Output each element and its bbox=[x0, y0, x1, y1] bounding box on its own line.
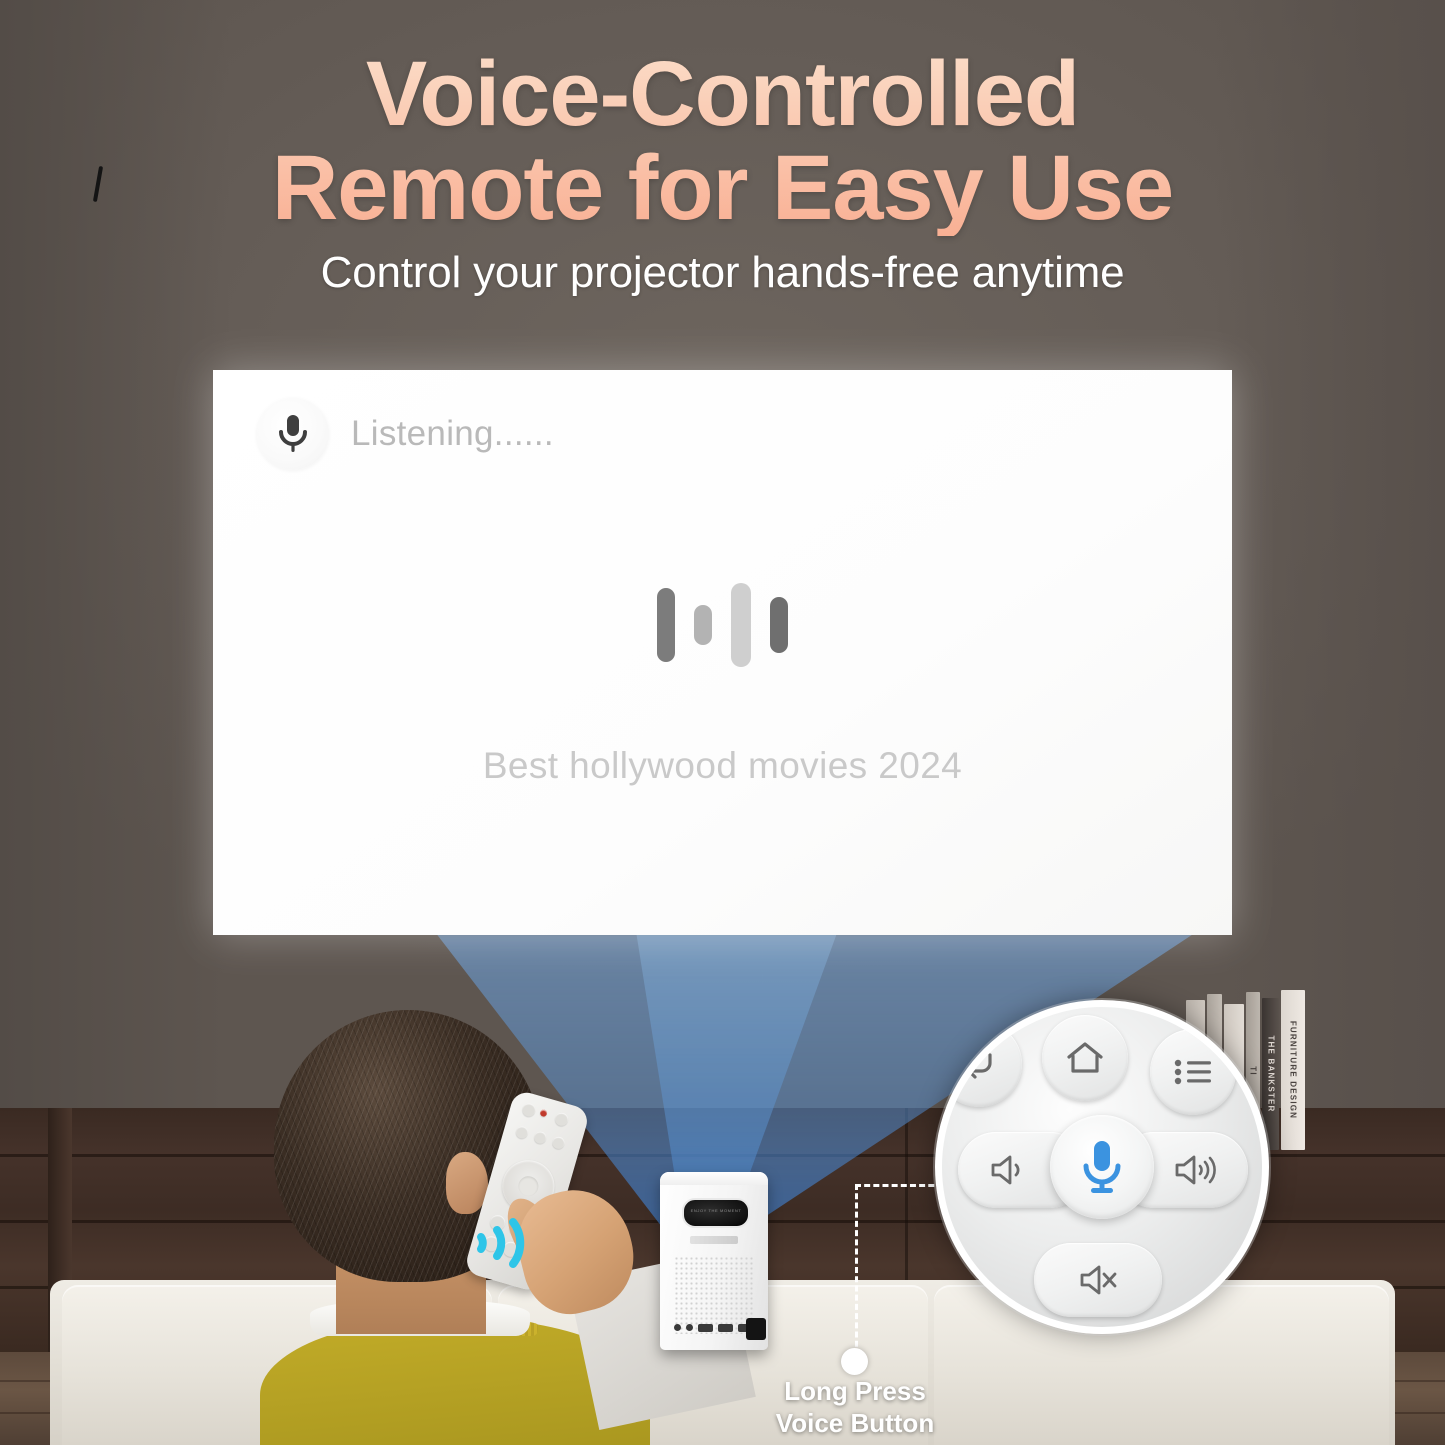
projection-screen: Listening...... Best hollywood movies 20… bbox=[213, 370, 1232, 935]
page-title: Voice-Controlled Remote for Easy Use bbox=[0, 48, 1445, 236]
voice-waveform bbox=[213, 575, 1232, 675]
listening-status-row: Listening...... bbox=[257, 398, 554, 470]
voice-query-text: Best hollywood movies 2024 bbox=[213, 745, 1232, 787]
projector-lens: ENJOY THE MOMENT bbox=[682, 1198, 750, 1228]
headline-line-2: Remote for Easy Use bbox=[0, 142, 1445, 236]
menu-button[interactable] bbox=[1150, 1029, 1236, 1115]
menu-list-icon bbox=[1172, 1057, 1214, 1087]
mute-icon bbox=[1076, 1263, 1120, 1297]
mute-button[interactable] bbox=[1034, 1243, 1162, 1317]
projector-brand-label bbox=[690, 1236, 738, 1244]
callout-line-1: Long Press bbox=[620, 1376, 1090, 1408]
microphone-icon bbox=[257, 398, 329, 470]
back-button[interactable] bbox=[936, 1021, 1022, 1107]
projector-device: ENJOY THE MOMENT bbox=[660, 1172, 768, 1350]
page-subtitle: Control your projector hands-free anytim… bbox=[0, 248, 1445, 298]
volume-down-icon bbox=[987, 1153, 1031, 1187]
wifi-signal-icon bbox=[455, 1210, 525, 1276]
callout-line-2: Voice Button bbox=[620, 1408, 1090, 1440]
headline-line-1: Voice-Controlled bbox=[0, 48, 1445, 142]
product-banner: THE HOU IM SO TI THE BANKSTER FURNITURE … bbox=[0, 0, 1445, 1445]
callout-label: Long Press Voice Button bbox=[620, 1376, 1090, 1439]
waveform-bar-2 bbox=[694, 605, 712, 645]
listening-status-text: Listening...... bbox=[351, 414, 554, 454]
home-icon bbox=[1065, 1040, 1105, 1076]
book-spine: FURNITURE DESIGN bbox=[1281, 990, 1305, 1150]
back-arrow-icon bbox=[960, 1049, 998, 1079]
callout-line-vertical bbox=[855, 1184, 858, 1356]
microphone-icon bbox=[1078, 1137, 1126, 1197]
waveform-bar-3 bbox=[731, 583, 751, 667]
waveform-bar-1 bbox=[657, 588, 675, 662]
book-spine: THE BANKSTER bbox=[1262, 998, 1279, 1150]
power-plug bbox=[746, 1318, 766, 1340]
volume-up-icon bbox=[1171, 1153, 1223, 1187]
waveform-bar-4 bbox=[770, 597, 788, 653]
remote-closeup-magnifier bbox=[935, 1000, 1269, 1334]
voice-button[interactable] bbox=[1050, 1115, 1154, 1219]
home-button[interactable] bbox=[1042, 1015, 1128, 1101]
callout-dot bbox=[841, 1348, 868, 1375]
